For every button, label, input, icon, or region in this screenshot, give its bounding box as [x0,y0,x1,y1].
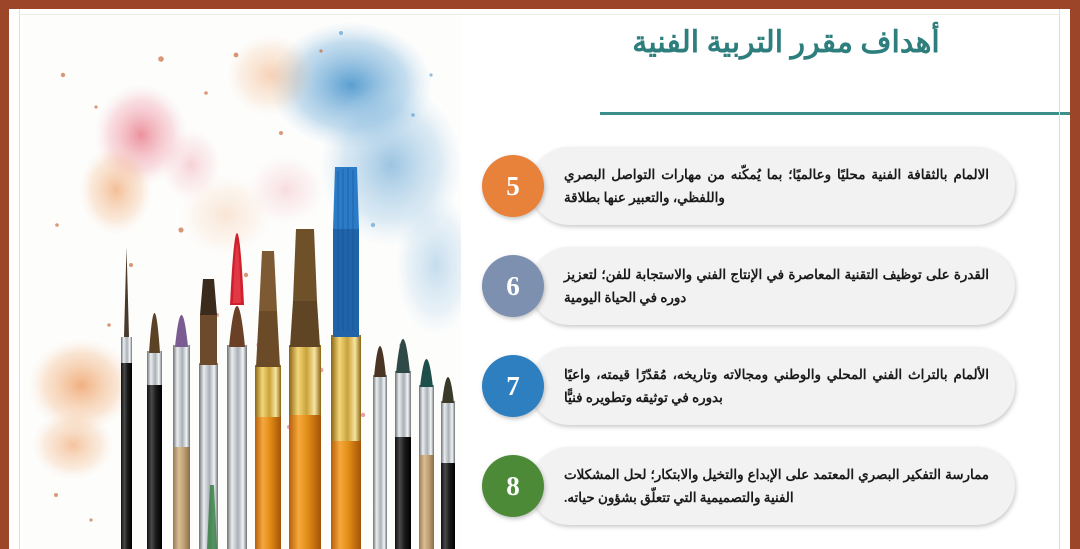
frame-left-border [0,0,9,549]
goals-list: الالمام بالثقافة الفنية محليًا وعالميًا؛… [455,140,1065,545]
goal-badge-7: 7 [482,355,544,417]
goal-number-5: 5 [506,171,520,202]
goal-text-8: ممارسة التفكير البصري المعتمد على الإبدا… [564,463,989,509]
goal-badge-6: 6 [482,255,544,317]
frame-inner-right-line [1059,9,1060,549]
goal-badge-8: 8 [482,455,544,517]
goal-number-7: 7 [506,371,520,402]
frame-inner-top-line [19,14,1061,15]
goal-pill-5[interactable]: الالمام بالثقافة الفنية محليًا وعالميًا؛… [530,147,1015,225]
page-title: أهداف مقرر التربية الفنية [506,24,1066,62]
goal-pill-6[interactable]: القدرة على توظيف التقنية المعاصرة في الإ… [530,247,1015,325]
goal-text-7: الألمام بالتراث الفني المحلي والوطني ومج… [564,363,989,409]
goal-item-6[interactable]: القدرة على توظيف التقنية المعاصرة في الإ… [455,245,1015,327]
goal-item-8[interactable]: ممارسة التفكير البصري المعتمد على الإبدا… [455,445,1015,527]
frame-inner-left-line [19,9,20,549]
frame-top-border [0,0,1080,9]
goal-item-7[interactable]: الألمام بالتراث الفني المحلي والوطني ومج… [455,345,1015,427]
goal-badge-5: 5 [482,155,544,217]
goal-item-5[interactable]: الالمام بالثقافة الفنية محليًا وعالميًا؛… [455,145,1015,227]
title-divider-rule [600,112,1070,115]
goal-number-6: 6 [506,271,520,302]
page-title-text: أهداف مقرر التربية الفنية [506,24,1066,62]
goal-text-5: الالمام بالثقافة الفنية محليًا وعالميًا؛… [564,163,989,209]
goal-pill-7[interactable]: الألمام بالتراث الفني المحلي والوطني ومج… [530,347,1015,425]
frame-right-border [1070,0,1080,549]
paintbrushes-photo [21,15,461,549]
goal-pill-8[interactable]: ممارسة التفكير البصري المعتمد على الإبدا… [530,447,1015,525]
slide-root: أهداف مقرر التربية الفنية الالمام بالثقا… [0,0,1080,549]
goal-text-6: القدرة على توظيف التقنية المعاصرة في الإ… [564,263,989,309]
goal-number-8: 8 [506,471,520,502]
